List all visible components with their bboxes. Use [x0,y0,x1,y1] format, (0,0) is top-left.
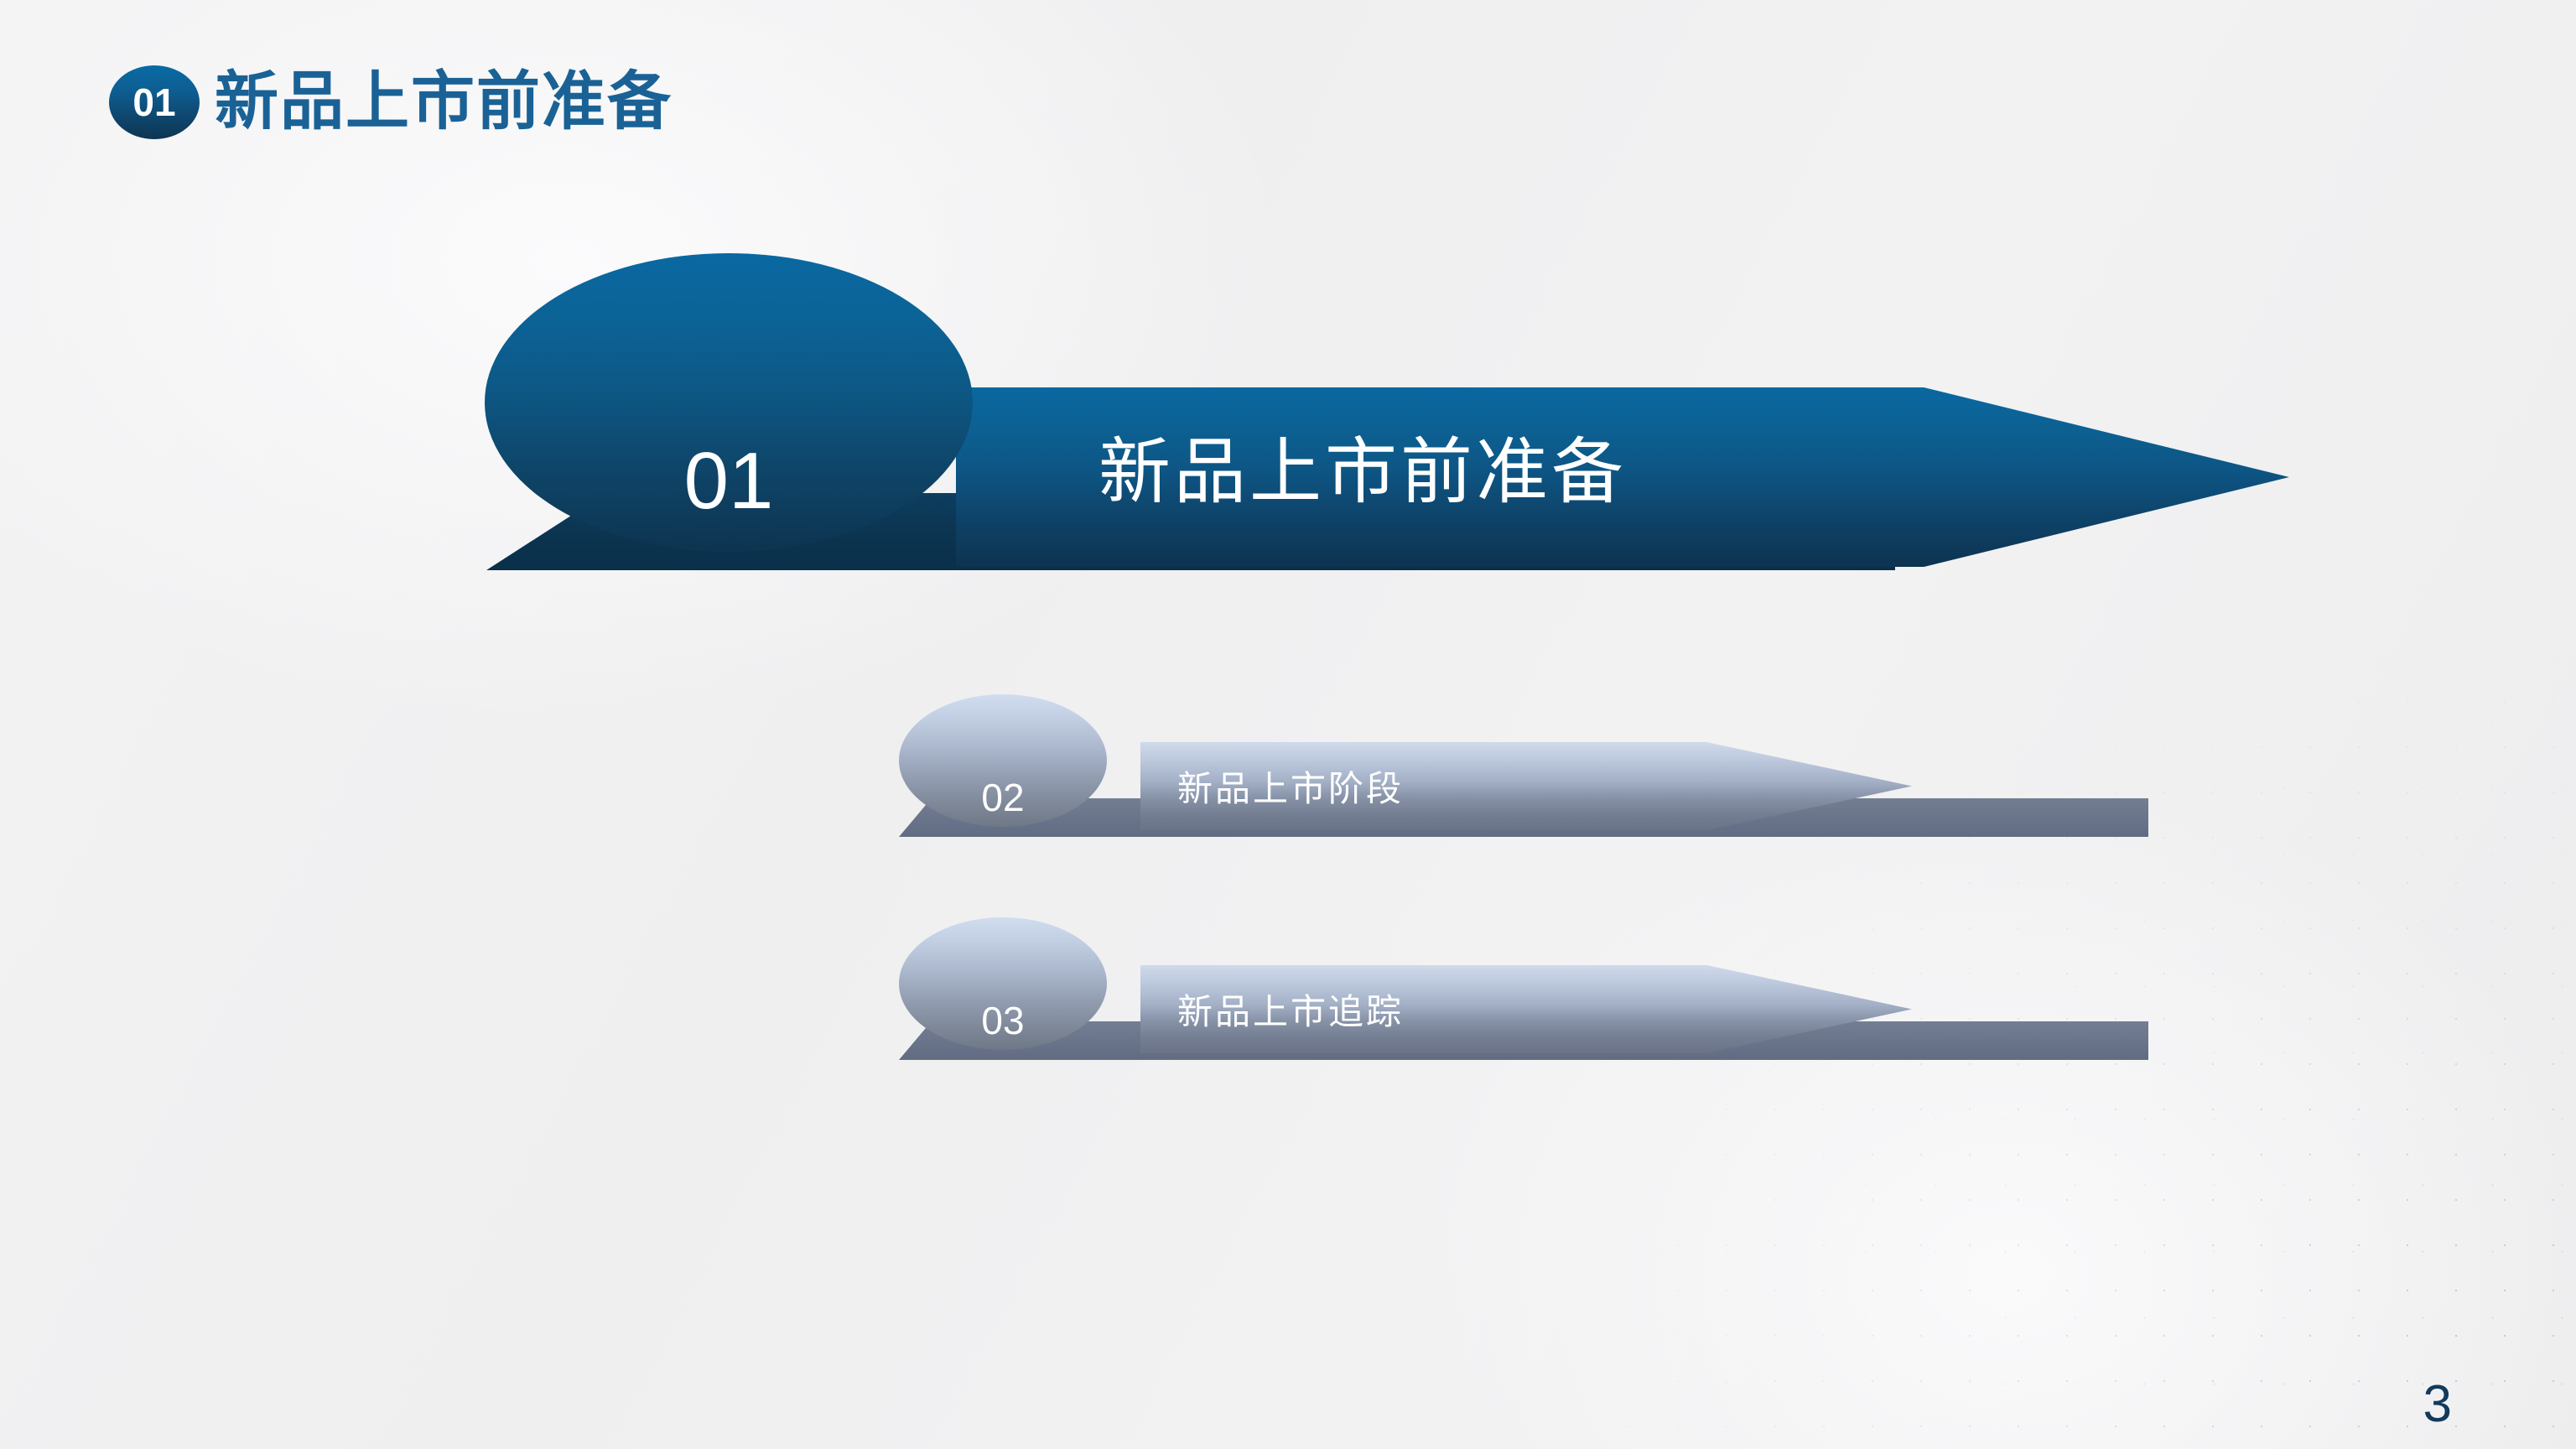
stage-03-number: 03 [981,1001,1024,1040]
stage-01-number: 01 [684,441,774,522]
stage-01-label: 新品上市前准备 [1098,436,1627,508]
stage-02-number-circle: 02 [899,694,1107,827]
stage-02-label: 新品上市阶段 [1177,771,1404,807]
page-number: 3 [2423,1379,2452,1431]
stage-03-label: 新品上市追踪 [1177,995,1404,1030]
stage-02-number: 02 [981,778,1024,817]
stage-01-number-circle: 01 [485,253,973,552]
stage-03-number-circle: 03 [899,917,1107,1050]
slide-canvas: 01 新品上市前准备 01 新品上市前准备 02 新品上市阶段 03 新品上市追… [0,0,2576,1449]
